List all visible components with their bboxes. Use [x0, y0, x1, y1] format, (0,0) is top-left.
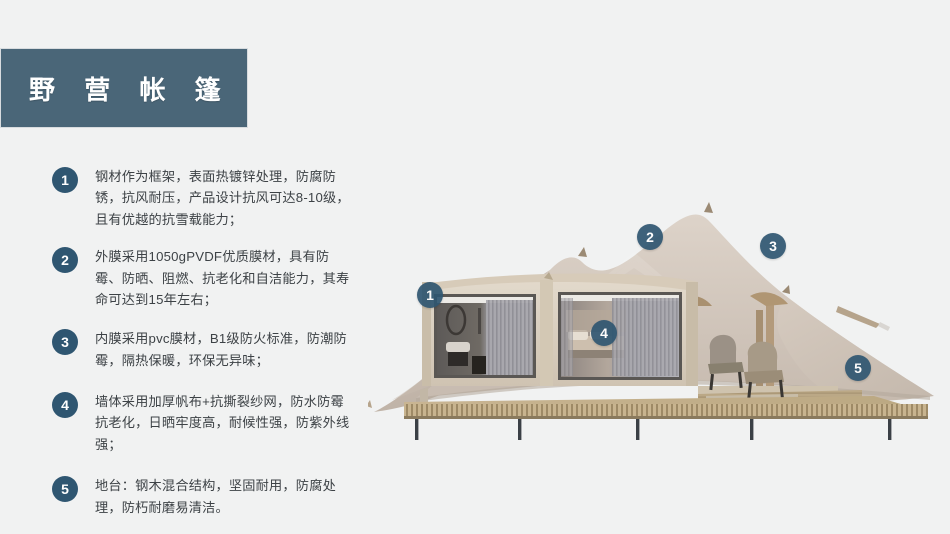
- tent-illustration: 1 2 3 4 5: [368, 150, 946, 440]
- page-title: 野 营 帐 篷: [1, 70, 232, 107]
- callout-1: 1: [417, 282, 443, 308]
- callout-2: 2: [637, 224, 663, 250]
- feature-badge-1: 1: [52, 167, 78, 193]
- corner-post-middle: [540, 280, 553, 386]
- tent-graphic: [368, 150, 946, 440]
- deck-edge-slats: [404, 404, 928, 418]
- page-root: 野 营 帐 篷 1 钢材作为框架，表面热镀锌处理，防腐防锈，抗风耐压，产品设计抗…: [0, 0, 950, 534]
- canopy-peak-tip-left: [578, 247, 587, 257]
- list-item: 3 内膜采用pvc膜材，B1级防火标准，防潮防霉，隔热保暖，环保无异味；: [52, 328, 352, 371]
- feature-badge-3: 3: [52, 329, 78, 355]
- list-item: 5 地台：钢木混合结构，坚固耐用，防腐处理，防朽耐磨易清洁。: [52, 475, 352, 518]
- canopy-peak-tip-center: [704, 202, 713, 213]
- list-item: 4 墙体采用加厚帆布+抗撕裂纱网，防水防霉抗老化，日晒牢度高，耐候性强，防紫外线…: [52, 391, 352, 455]
- feature-text-1: 钢材作为框架，表面热镀锌处理，防腐防锈，抗风耐压，产品设计抗风可达8-10级，且…: [95, 166, 352, 230]
- window-right: [558, 292, 682, 380]
- feature-text-5: 地台：钢木混合结构，坚固耐用，防腐处理，防朽耐磨易清洁。: [95, 475, 352, 518]
- feature-badge-5: 5: [52, 476, 78, 502]
- feature-list: 1 钢材作为框架，表面热镀锌处理，防腐防锈，抗风耐压，产品设计抗风可达8-10级…: [52, 166, 352, 534]
- list-item: 1 钢材作为框架，表面热镀锌处理，防腐防锈，抗风耐压，产品设计抗风可达8-10级…: [52, 166, 352, 230]
- feature-text-4: 墙体采用加厚帆布+抗撕裂纱网，防水防霉抗老化，日晒牢度高，耐候性强，防紫外线强；: [95, 391, 352, 455]
- deck-legs: [415, 419, 891, 440]
- feature-text-3: 内膜采用pvc膜材，B1级防火标准，防潮防霉，隔热保暖，环保无异味；: [95, 328, 352, 371]
- canopy-peak-tip-right: [782, 285, 790, 294]
- feature-badge-2: 2: [52, 247, 78, 273]
- corner-post-right: [686, 282, 698, 386]
- callout-4: 4: [591, 320, 617, 346]
- callout-5: 5: [845, 355, 871, 381]
- feature-badge-4: 4: [52, 392, 78, 418]
- window-left: [434, 294, 536, 378]
- callout-3: 3: [760, 233, 786, 259]
- feature-text-2: 外膜采用1050gPVDF优质膜材，具有防霉、防晒、阻燃、抗老化和自洁能力，其寿…: [95, 246, 352, 310]
- list-item: 2 外膜采用1050gPVDF优质膜材，具有防霉、防晒、阻燃、抗老化和自洁能力，…: [52, 246, 352, 310]
- title-block: 野 营 帐 篷: [0, 48, 248, 128]
- deck-edge-shadow: [404, 416, 928, 419]
